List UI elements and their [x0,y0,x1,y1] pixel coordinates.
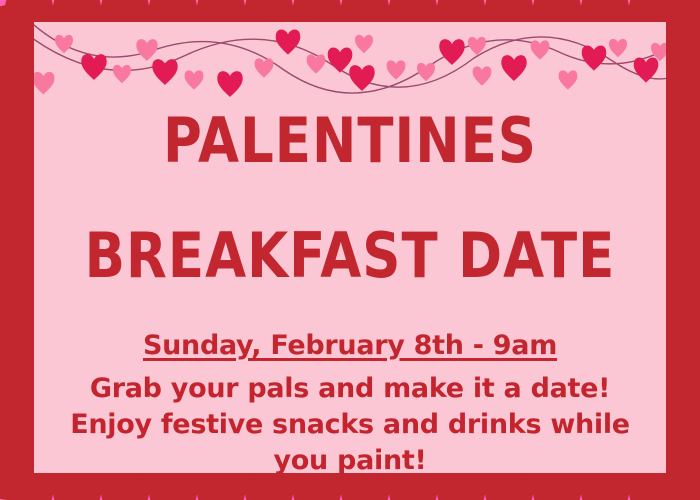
palentines-breakfast-date-poster: PALENTINES BREAKFAST DATE Sunday, Februa… [0,0,700,500]
poster-title-line-2: BREAKFAST DATE [85,225,616,288]
poster-body-line-1: Grab your pals and make it a date! [70,371,630,407]
poster-body-text: Grab your pals and make it a date! Enjoy… [70,371,630,473]
poster-body-line-2: Enjoy festive snacks and drinks while [70,407,630,443]
poster-title-line-1: PALENTINES [163,110,537,173]
poster-body-line-3: you paint! [70,443,630,473]
poster-content: PALENTINES BREAKFAST DATE Sunday, Februa… [34,22,666,473]
poster-inner-panel: PALENTINES BREAKFAST DATE Sunday, Februa… [34,22,666,473]
poster-date-time: Sunday, February 8th - 9am [143,330,557,361]
